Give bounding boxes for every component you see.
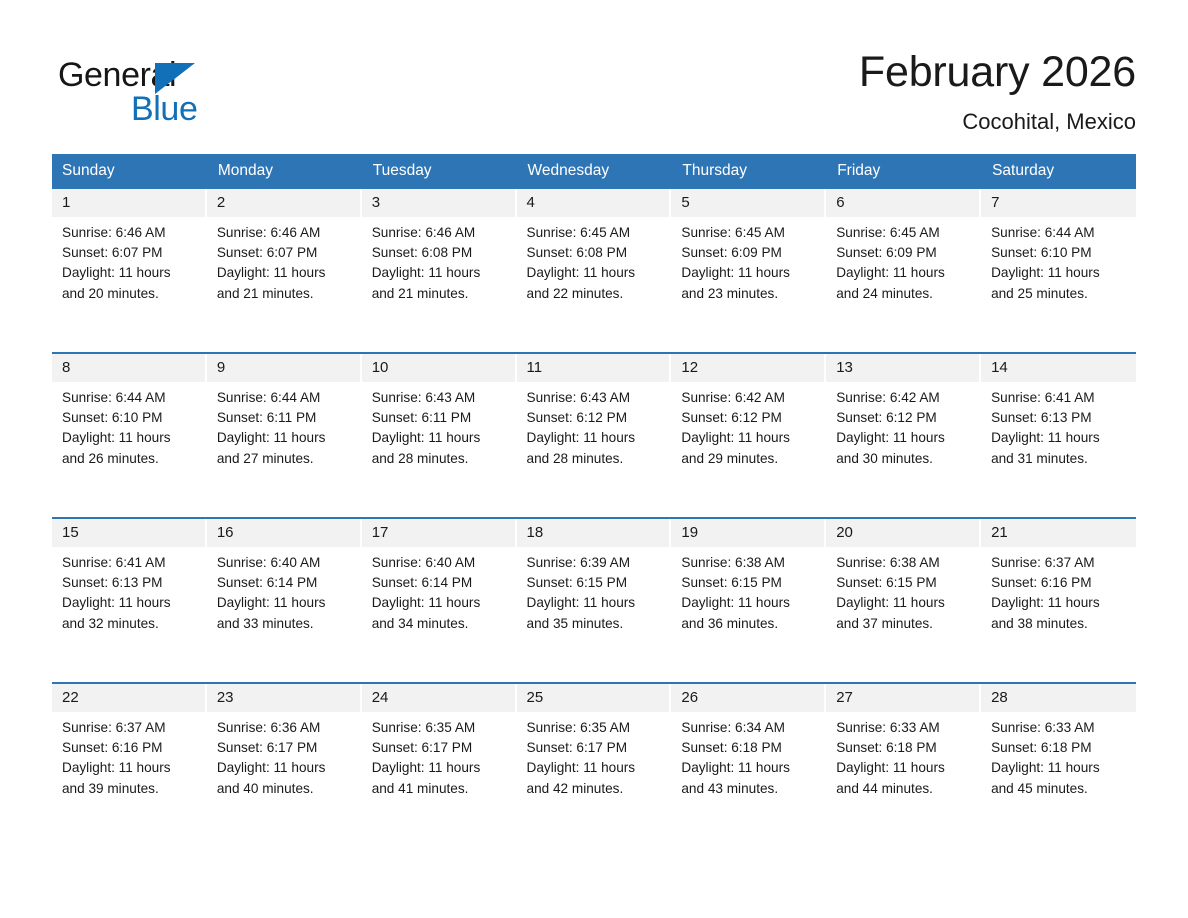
daylight-text-line2: and 28 minutes. — [372, 449, 509, 469]
sunrise-text: Sunrise: 6:38 AM — [681, 553, 818, 573]
weekday-header-saturday: Saturday — [981, 154, 1136, 189]
day-cell[interactable]: 13Sunrise: 6:42 AMSunset: 6:12 PMDayligh… — [826, 353, 981, 518]
day-cell[interactable]: 24Sunrise: 6:35 AMSunset: 6:17 PMDayligh… — [362, 683, 517, 847]
sunrise-text: Sunrise: 6:45 AM — [527, 223, 664, 243]
daylight-text-line1: Daylight: 11 hours — [527, 263, 664, 283]
daylight-text-line1: Daylight: 11 hours — [372, 428, 509, 448]
day-number: 9 — [207, 354, 360, 382]
day-cell[interactable]: 22Sunrise: 6:37 AMSunset: 6:16 PMDayligh… — [52, 683, 207, 847]
day-cell[interactable]: 5Sunrise: 6:45 AMSunset: 6:09 PMDaylight… — [671, 189, 826, 353]
day-details: Sunrise: 6:45 AMSunset: 6:08 PMDaylight:… — [517, 217, 672, 304]
weekday-header-sunday: Sunday — [52, 154, 207, 189]
sunrise-text: Sunrise: 6:40 AM — [217, 553, 354, 573]
day-cell[interactable]: 19Sunrise: 6:38 AMSunset: 6:15 PMDayligh… — [671, 518, 826, 683]
day-details: Sunrise: 6:35 AMSunset: 6:17 PMDaylight:… — [517, 712, 672, 799]
sunset-text: Sunset: 6:08 PM — [372, 243, 509, 263]
sunrise-text: Sunrise: 6:46 AM — [62, 223, 199, 243]
sunset-text: Sunset: 6:18 PM — [681, 738, 818, 758]
day-number: 7 — [981, 189, 1136, 217]
daylight-text-line2: and 26 minutes. — [62, 449, 199, 469]
day-number: 1 — [52, 189, 205, 217]
day-details: Sunrise: 6:33 AMSunset: 6:18 PMDaylight:… — [981, 712, 1136, 799]
day-number: 13 — [826, 354, 979, 382]
daylight-text-line2: and 29 minutes. — [681, 449, 818, 469]
day-details: Sunrise: 6:46 AMSunset: 6:07 PMDaylight:… — [52, 217, 207, 304]
weekday-header-thursday: Thursday — [671, 154, 826, 189]
sunset-text: Sunset: 6:09 PM — [681, 243, 818, 263]
daylight-text-line1: Daylight: 11 hours — [991, 593, 1128, 613]
daylight-text-line2: and 22 minutes. — [527, 284, 664, 304]
day-details: Sunrise: 6:46 AMSunset: 6:07 PMDaylight:… — [207, 217, 362, 304]
day-details: Sunrise: 6:42 AMSunset: 6:12 PMDaylight:… — [671, 382, 826, 469]
sunrise-text: Sunrise: 6:46 AM — [372, 223, 509, 243]
daylight-text-line2: and 35 minutes. — [527, 614, 664, 634]
day-cell[interactable]: 6Sunrise: 6:45 AMSunset: 6:09 PMDaylight… — [826, 189, 981, 353]
day-cell[interactable]: 20Sunrise: 6:38 AMSunset: 6:15 PMDayligh… — [826, 518, 981, 683]
sunrise-text: Sunrise: 6:34 AM — [681, 718, 818, 738]
daylight-text-line1: Daylight: 11 hours — [372, 593, 509, 613]
daylight-text-line2: and 31 minutes. — [991, 449, 1128, 469]
daylight-text-line2: and 23 minutes. — [681, 284, 818, 304]
day-details: Sunrise: 6:41 AMSunset: 6:13 PMDaylight:… — [52, 547, 207, 634]
day-details: Sunrise: 6:37 AMSunset: 6:16 PMDaylight:… — [52, 712, 207, 799]
daylight-text-line2: and 44 minutes. — [836, 779, 973, 799]
sunrise-text: Sunrise: 6:42 AM — [681, 388, 818, 408]
day-number: 22 — [52, 684, 205, 712]
daylight-text-line1: Daylight: 11 hours — [991, 263, 1128, 283]
day-details: Sunrise: 6:38 AMSunset: 6:15 PMDaylight:… — [671, 547, 826, 634]
daylight-text-line2: and 40 minutes. — [217, 779, 354, 799]
daylight-text-line1: Daylight: 11 hours — [217, 428, 354, 448]
sunrise-text: Sunrise: 6:41 AM — [62, 553, 199, 573]
day-number: 12 — [671, 354, 824, 382]
day-cell[interactable]: 14Sunrise: 6:41 AMSunset: 6:13 PMDayligh… — [981, 353, 1136, 518]
daylight-text-line1: Daylight: 11 hours — [217, 263, 354, 283]
day-details: Sunrise: 6:38 AMSunset: 6:15 PMDaylight:… — [826, 547, 981, 634]
sunrise-text: Sunrise: 6:35 AM — [372, 718, 509, 738]
sunrise-text: Sunrise: 6:40 AM — [372, 553, 509, 573]
day-number: 28 — [981, 684, 1136, 712]
day-number: 2 — [207, 189, 360, 217]
week-row: 8Sunrise: 6:44 AMSunset: 6:10 PMDaylight… — [52, 353, 1136, 518]
daylight-text-line2: and 36 minutes. — [681, 614, 818, 634]
day-details: Sunrise: 6:39 AMSunset: 6:15 PMDaylight:… — [517, 547, 672, 634]
daylight-text-line2: and 38 minutes. — [991, 614, 1128, 634]
sunset-text: Sunset: 6:17 PM — [217, 738, 354, 758]
week-row: 22Sunrise: 6:37 AMSunset: 6:16 PMDayligh… — [52, 683, 1136, 847]
sunrise-text: Sunrise: 6:37 AM — [991, 553, 1128, 573]
weekday-header-row: Sunday Monday Tuesday Wednesday Thursday… — [52, 154, 1136, 189]
sunset-text: Sunset: 6:13 PM — [62, 573, 199, 593]
daylight-text-line2: and 45 minutes. — [991, 779, 1128, 799]
sunrise-text: Sunrise: 6:45 AM — [681, 223, 818, 243]
sunrise-text: Sunrise: 6:46 AM — [217, 223, 354, 243]
day-number: 17 — [362, 519, 515, 547]
page-title: February 2026 — [859, 50, 1136, 95]
day-cell[interactable]: 16Sunrise: 6:40 AMSunset: 6:14 PMDayligh… — [207, 518, 362, 683]
sunrise-text: Sunrise: 6:43 AM — [527, 388, 664, 408]
daylight-text-line1: Daylight: 11 hours — [62, 758, 199, 778]
sunset-text: Sunset: 6:18 PM — [836, 738, 973, 758]
day-number: 8 — [52, 354, 205, 382]
weekday-header-wednesday: Wednesday — [517, 154, 672, 189]
day-details: Sunrise: 6:43 AMSunset: 6:12 PMDaylight:… — [517, 382, 672, 469]
daylight-text-line1: Daylight: 11 hours — [527, 428, 664, 448]
day-cell[interactable]: 26Sunrise: 6:34 AMSunset: 6:18 PMDayligh… — [671, 683, 826, 847]
week-row: 15Sunrise: 6:41 AMSunset: 6:13 PMDayligh… — [52, 518, 1136, 683]
day-cell[interactable]: 25Sunrise: 6:35 AMSunset: 6:17 PMDayligh… — [517, 683, 672, 847]
day-number: 21 — [981, 519, 1136, 547]
daylight-text-line1: Daylight: 11 hours — [62, 263, 199, 283]
day-cell[interactable]: 4Sunrise: 6:45 AMSunset: 6:08 PMDaylight… — [517, 189, 672, 353]
sunset-text: Sunset: 6:15 PM — [836, 573, 973, 593]
day-cell[interactable]: 18Sunrise: 6:39 AMSunset: 6:15 PMDayligh… — [517, 518, 672, 683]
daylight-text-line1: Daylight: 11 hours — [836, 758, 973, 778]
day-details: Sunrise: 6:43 AMSunset: 6:11 PMDaylight:… — [362, 382, 517, 469]
sunset-text: Sunset: 6:18 PM — [991, 738, 1128, 758]
day-details: Sunrise: 6:42 AMSunset: 6:12 PMDaylight:… — [826, 382, 981, 469]
sunset-text: Sunset: 6:12 PM — [527, 408, 664, 428]
sunrise-text: Sunrise: 6:44 AM — [991, 223, 1128, 243]
sunset-text: Sunset: 6:14 PM — [217, 573, 354, 593]
sunrise-text: Sunrise: 6:39 AM — [527, 553, 664, 573]
daylight-text-line2: and 30 minutes. — [836, 449, 973, 469]
sunset-text: Sunset: 6:12 PM — [681, 408, 818, 428]
daylight-text-line2: and 34 minutes. — [372, 614, 509, 634]
day-cell[interactable]: 17Sunrise: 6:40 AMSunset: 6:14 PMDayligh… — [362, 518, 517, 683]
day-number: 20 — [826, 519, 979, 547]
sunset-text: Sunset: 6:15 PM — [527, 573, 664, 593]
sunset-text: Sunset: 6:08 PM — [527, 243, 664, 263]
day-number: 16 — [207, 519, 360, 547]
day-number: 24 — [362, 684, 515, 712]
day-cell[interactable]: 12Sunrise: 6:42 AMSunset: 6:12 PMDayligh… — [671, 353, 826, 518]
daylight-text-line1: Daylight: 11 hours — [836, 263, 973, 283]
sunrise-text: Sunrise: 6:37 AM — [62, 718, 199, 738]
daylight-text-line2: and 39 minutes. — [62, 779, 199, 799]
daylight-text-line1: Daylight: 11 hours — [372, 263, 509, 283]
sunrise-text: Sunrise: 6:33 AM — [836, 718, 973, 738]
sunset-text: Sunset: 6:10 PM — [62, 408, 199, 428]
sunrise-text: Sunrise: 6:36 AM — [217, 718, 354, 738]
day-cell[interactable]: 11Sunrise: 6:43 AMSunset: 6:12 PMDayligh… — [517, 353, 672, 518]
daylight-text-line1: Daylight: 11 hours — [991, 428, 1128, 448]
day-details: Sunrise: 6:44 AMSunset: 6:10 PMDaylight:… — [52, 382, 207, 469]
sunset-text: Sunset: 6:16 PM — [62, 738, 199, 758]
day-cell[interactable]: 28Sunrise: 6:33 AMSunset: 6:18 PMDayligh… — [981, 683, 1136, 847]
weekday-header-monday: Monday — [207, 154, 362, 189]
generalblue-logo: General Blue — [58, 48, 278, 126]
day-details: Sunrise: 6:34 AMSunset: 6:18 PMDaylight:… — [671, 712, 826, 799]
day-details: Sunrise: 6:44 AMSunset: 6:11 PMDaylight:… — [207, 382, 362, 469]
day-details: Sunrise: 6:40 AMSunset: 6:14 PMDaylight:… — [207, 547, 362, 634]
day-number: 6 — [826, 189, 979, 217]
sunrise-text: Sunrise: 6:42 AM — [836, 388, 973, 408]
calendar-body: 1Sunrise: 6:46 AMSunset: 6:07 PMDaylight… — [52, 189, 1136, 847]
daylight-text-line2: and 21 minutes. — [217, 284, 354, 304]
sunset-text: Sunset: 6:17 PM — [372, 738, 509, 758]
daylight-text-line2: and 28 minutes. — [527, 449, 664, 469]
sunset-text: Sunset: 6:13 PM — [991, 408, 1128, 428]
daylight-text-line1: Daylight: 11 hours — [991, 758, 1128, 778]
daylight-text-line1: Daylight: 11 hours — [527, 758, 664, 778]
daylight-text-line2: and 41 minutes. — [372, 779, 509, 799]
sunset-text: Sunset: 6:16 PM — [991, 573, 1128, 593]
daylight-text-line2: and 20 minutes. — [62, 284, 199, 304]
daylight-text-line1: Daylight: 11 hours — [681, 428, 818, 448]
sunrise-text: Sunrise: 6:44 AM — [217, 388, 354, 408]
daylight-text-line1: Daylight: 11 hours — [836, 593, 973, 613]
sunset-text: Sunset: 6:14 PM — [372, 573, 509, 593]
day-cell[interactable]: 9Sunrise: 6:44 AMSunset: 6:11 PMDaylight… — [207, 353, 362, 518]
sunset-text: Sunset: 6:15 PM — [681, 573, 818, 593]
daylight-text-line1: Daylight: 11 hours — [681, 758, 818, 778]
weekday-header-tuesday: Tuesday — [362, 154, 517, 189]
daylight-text-line2: and 32 minutes. — [62, 614, 199, 634]
day-number: 15 — [52, 519, 205, 547]
daylight-text-line1: Daylight: 11 hours — [62, 593, 199, 613]
daylight-text-line2: and 42 minutes. — [527, 779, 664, 799]
sunrise-text: Sunrise: 6:35 AM — [527, 718, 664, 738]
sunset-text: Sunset: 6:10 PM — [991, 243, 1128, 263]
day-cell[interactable]: 8Sunrise: 6:44 AMSunset: 6:10 PMDaylight… — [52, 353, 207, 518]
daylight-text-line1: Daylight: 11 hours — [527, 593, 664, 613]
day-cell[interactable]: 3Sunrise: 6:46 AMSunset: 6:08 PMDaylight… — [362, 189, 517, 353]
day-number: 27 — [826, 684, 979, 712]
day-cell[interactable]: 15Sunrise: 6:41 AMSunset: 6:13 PMDayligh… — [52, 518, 207, 683]
day-details: Sunrise: 6:35 AMSunset: 6:17 PMDaylight:… — [362, 712, 517, 799]
day-cell[interactable]: 27Sunrise: 6:33 AMSunset: 6:18 PMDayligh… — [826, 683, 981, 847]
day-number: 4 — [517, 189, 670, 217]
page-header: General Blue February 2026 Cocohital, Me… — [0, 0, 1188, 135]
day-cell[interactable]: 21Sunrise: 6:37 AMSunset: 6:16 PMDayligh… — [981, 518, 1136, 683]
sunset-text: Sunset: 6:11 PM — [372, 408, 509, 428]
sunrise-text: Sunrise: 6:33 AM — [991, 718, 1128, 738]
day-number: 25 — [517, 684, 670, 712]
daylight-text-line1: Daylight: 11 hours — [62, 428, 199, 448]
day-number: 26 — [671, 684, 824, 712]
daylight-text-line1: Daylight: 11 hours — [681, 593, 818, 613]
day-number: 18 — [517, 519, 670, 547]
week-row: 1Sunrise: 6:46 AMSunset: 6:07 PMDaylight… — [52, 189, 1136, 353]
day-cell[interactable]: 23Sunrise: 6:36 AMSunset: 6:17 PMDayligh… — [207, 683, 362, 847]
day-number: 23 — [207, 684, 360, 712]
day-number: 14 — [981, 354, 1136, 382]
day-number: 11 — [517, 354, 670, 382]
daylight-text-line1: Daylight: 11 hours — [217, 593, 354, 613]
sunrise-text: Sunrise: 6:43 AM — [372, 388, 509, 408]
logo-text-blue: Blue — [131, 92, 197, 126]
sunset-text: Sunset: 6:07 PM — [62, 243, 199, 263]
day-cell[interactable]: 7Sunrise: 6:44 AMSunset: 6:10 PMDaylight… — [981, 189, 1136, 353]
day-number: 5 — [671, 189, 824, 217]
day-details: Sunrise: 6:46 AMSunset: 6:08 PMDaylight:… — [362, 217, 517, 304]
day-number: 19 — [671, 519, 824, 547]
sunrise-sunset-calendar: Sunday Monday Tuesday Wednesday Thursday… — [52, 154, 1136, 847]
sunrise-text: Sunrise: 6:41 AM — [991, 388, 1128, 408]
daylight-text-line1: Daylight: 11 hours — [372, 758, 509, 778]
day-details: Sunrise: 6:40 AMSunset: 6:14 PMDaylight:… — [362, 547, 517, 634]
sunset-text: Sunset: 6:17 PM — [527, 738, 664, 758]
daylight-text-line1: Daylight: 11 hours — [836, 428, 973, 448]
daylight-text-line2: and 37 minutes. — [836, 614, 973, 634]
sunrise-text: Sunrise: 6:38 AM — [836, 553, 973, 573]
day-cell[interactable]: 2Sunrise: 6:46 AMSunset: 6:07 PMDaylight… — [207, 189, 362, 353]
day-details: Sunrise: 6:37 AMSunset: 6:16 PMDaylight:… — [981, 547, 1136, 634]
day-cell[interactable]: 1Sunrise: 6:46 AMSunset: 6:07 PMDaylight… — [52, 189, 207, 353]
day-details: Sunrise: 6:45 AMSunset: 6:09 PMDaylight:… — [671, 217, 826, 304]
sunrise-text: Sunrise: 6:44 AM — [62, 388, 199, 408]
day-details: Sunrise: 6:36 AMSunset: 6:17 PMDaylight:… — [207, 712, 362, 799]
day-details: Sunrise: 6:44 AMSunset: 6:10 PMDaylight:… — [981, 217, 1136, 304]
sunrise-text: Sunrise: 6:45 AM — [836, 223, 973, 243]
daylight-text-line2: and 24 minutes. — [836, 284, 973, 304]
sunset-text: Sunset: 6:11 PM — [217, 408, 354, 428]
daylight-text-line1: Daylight: 11 hours — [681, 263, 818, 283]
weekday-header-friday: Friday — [826, 154, 981, 189]
day-cell[interactable]: 10Sunrise: 6:43 AMSunset: 6:11 PMDayligh… — [362, 353, 517, 518]
daylight-text-line1: Daylight: 11 hours — [217, 758, 354, 778]
daylight-text-line2: and 21 minutes. — [372, 284, 509, 304]
day-number: 3 — [362, 189, 515, 217]
day-details: Sunrise: 6:45 AMSunset: 6:09 PMDaylight:… — [826, 217, 981, 304]
location-subtitle: Cocohital, Mexico — [859, 109, 1136, 135]
daylight-text-line2: and 25 minutes. — [991, 284, 1128, 304]
sunset-text: Sunset: 6:09 PM — [836, 243, 973, 263]
daylight-text-line2: and 27 minutes. — [217, 449, 354, 469]
day-number: 10 — [362, 354, 515, 382]
daylight-text-line2: and 33 minutes. — [217, 614, 354, 634]
sunset-text: Sunset: 6:12 PM — [836, 408, 973, 428]
day-details: Sunrise: 6:33 AMSunset: 6:18 PMDaylight:… — [826, 712, 981, 799]
sunset-text: Sunset: 6:07 PM — [217, 243, 354, 263]
day-details: Sunrise: 6:41 AMSunset: 6:13 PMDaylight:… — [981, 382, 1136, 469]
calendar-page: General Blue February 2026 Cocohital, Me… — [0, 0, 1188, 918]
daylight-text-line2: and 43 minutes. — [681, 779, 818, 799]
title-block: February 2026 Cocohital, Mexico — [859, 48, 1136, 135]
